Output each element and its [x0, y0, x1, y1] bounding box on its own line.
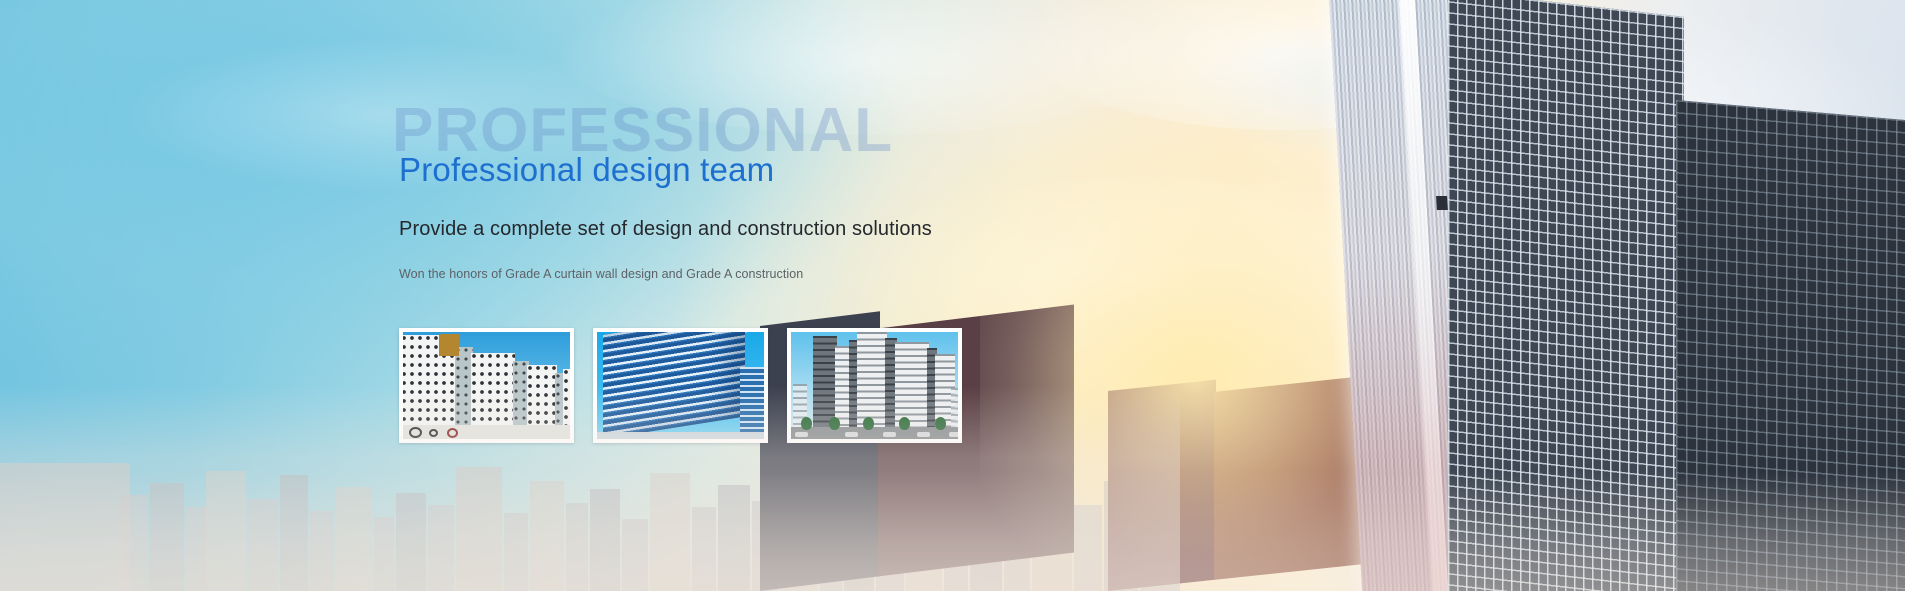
- hero-headline: Professional design team: [399, 150, 1219, 190]
- secondary-skyscraper: [1676, 100, 1905, 591]
- distant-skyline: [0, 386, 1180, 591]
- hero-copy-block: Professional design team Provide a compl…: [399, 150, 1219, 281]
- hero-banner: PROFESSIONAL Professional design team Pr…: [0, 0, 1905, 591]
- main-skyscraper: [1448, 0, 1684, 591]
- hero-subheadline: Provide a complete set of design and con…: [399, 218, 1219, 241]
- hero-caption: Won the honors of Grade A curtain wall d…: [399, 267, 1219, 281]
